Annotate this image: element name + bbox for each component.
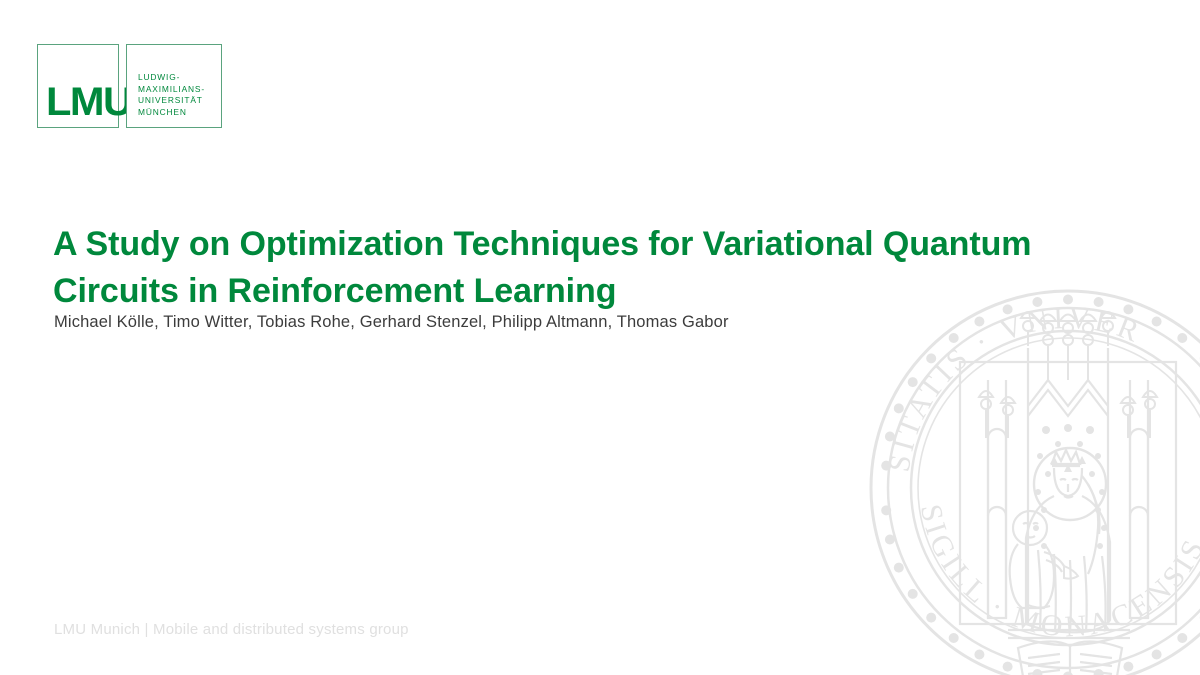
author-list: Michael Kölle, Timo Witter, Tobias Rohe,… [54, 310, 729, 334]
lmu-logo-name-box: LUDWIG- MAXIMILIANS- UNIVERSITÄT MÜNCHEN [126, 44, 222, 128]
university-seal-watermark: SITATIS · VNIVER SIGILL · MONACENSIS [868, 288, 1200, 675]
presentation-title-slide: SITATIS · VNIVER SIGILL · MONACENSIS [0, 0, 1200, 675]
svg-text:SITATIS · VNIVER: SITATIS · VNIVER [883, 302, 1147, 474]
lmu-university-fullname: LUDWIG- MAXIMILIANS- UNIVERSITÄT MÜNCHEN [138, 72, 205, 118]
svg-text:SIGILL · MONACENSIS: SIGILL · MONACENSIS [914, 502, 1200, 644]
slide-footer: LMU Munich | Mobile and distributed syst… [54, 620, 409, 640]
lmu-logo: LMU LUDWIG- MAXIMILIANS- UNIVERSITÄT MÜN… [37, 44, 222, 128]
page-title: A Study on Optimization Techniques for V… [53, 221, 1063, 315]
lmu-logo-mark-box: LMU [37, 44, 119, 128]
lmu-wordmark: LMU [46, 82, 131, 122]
